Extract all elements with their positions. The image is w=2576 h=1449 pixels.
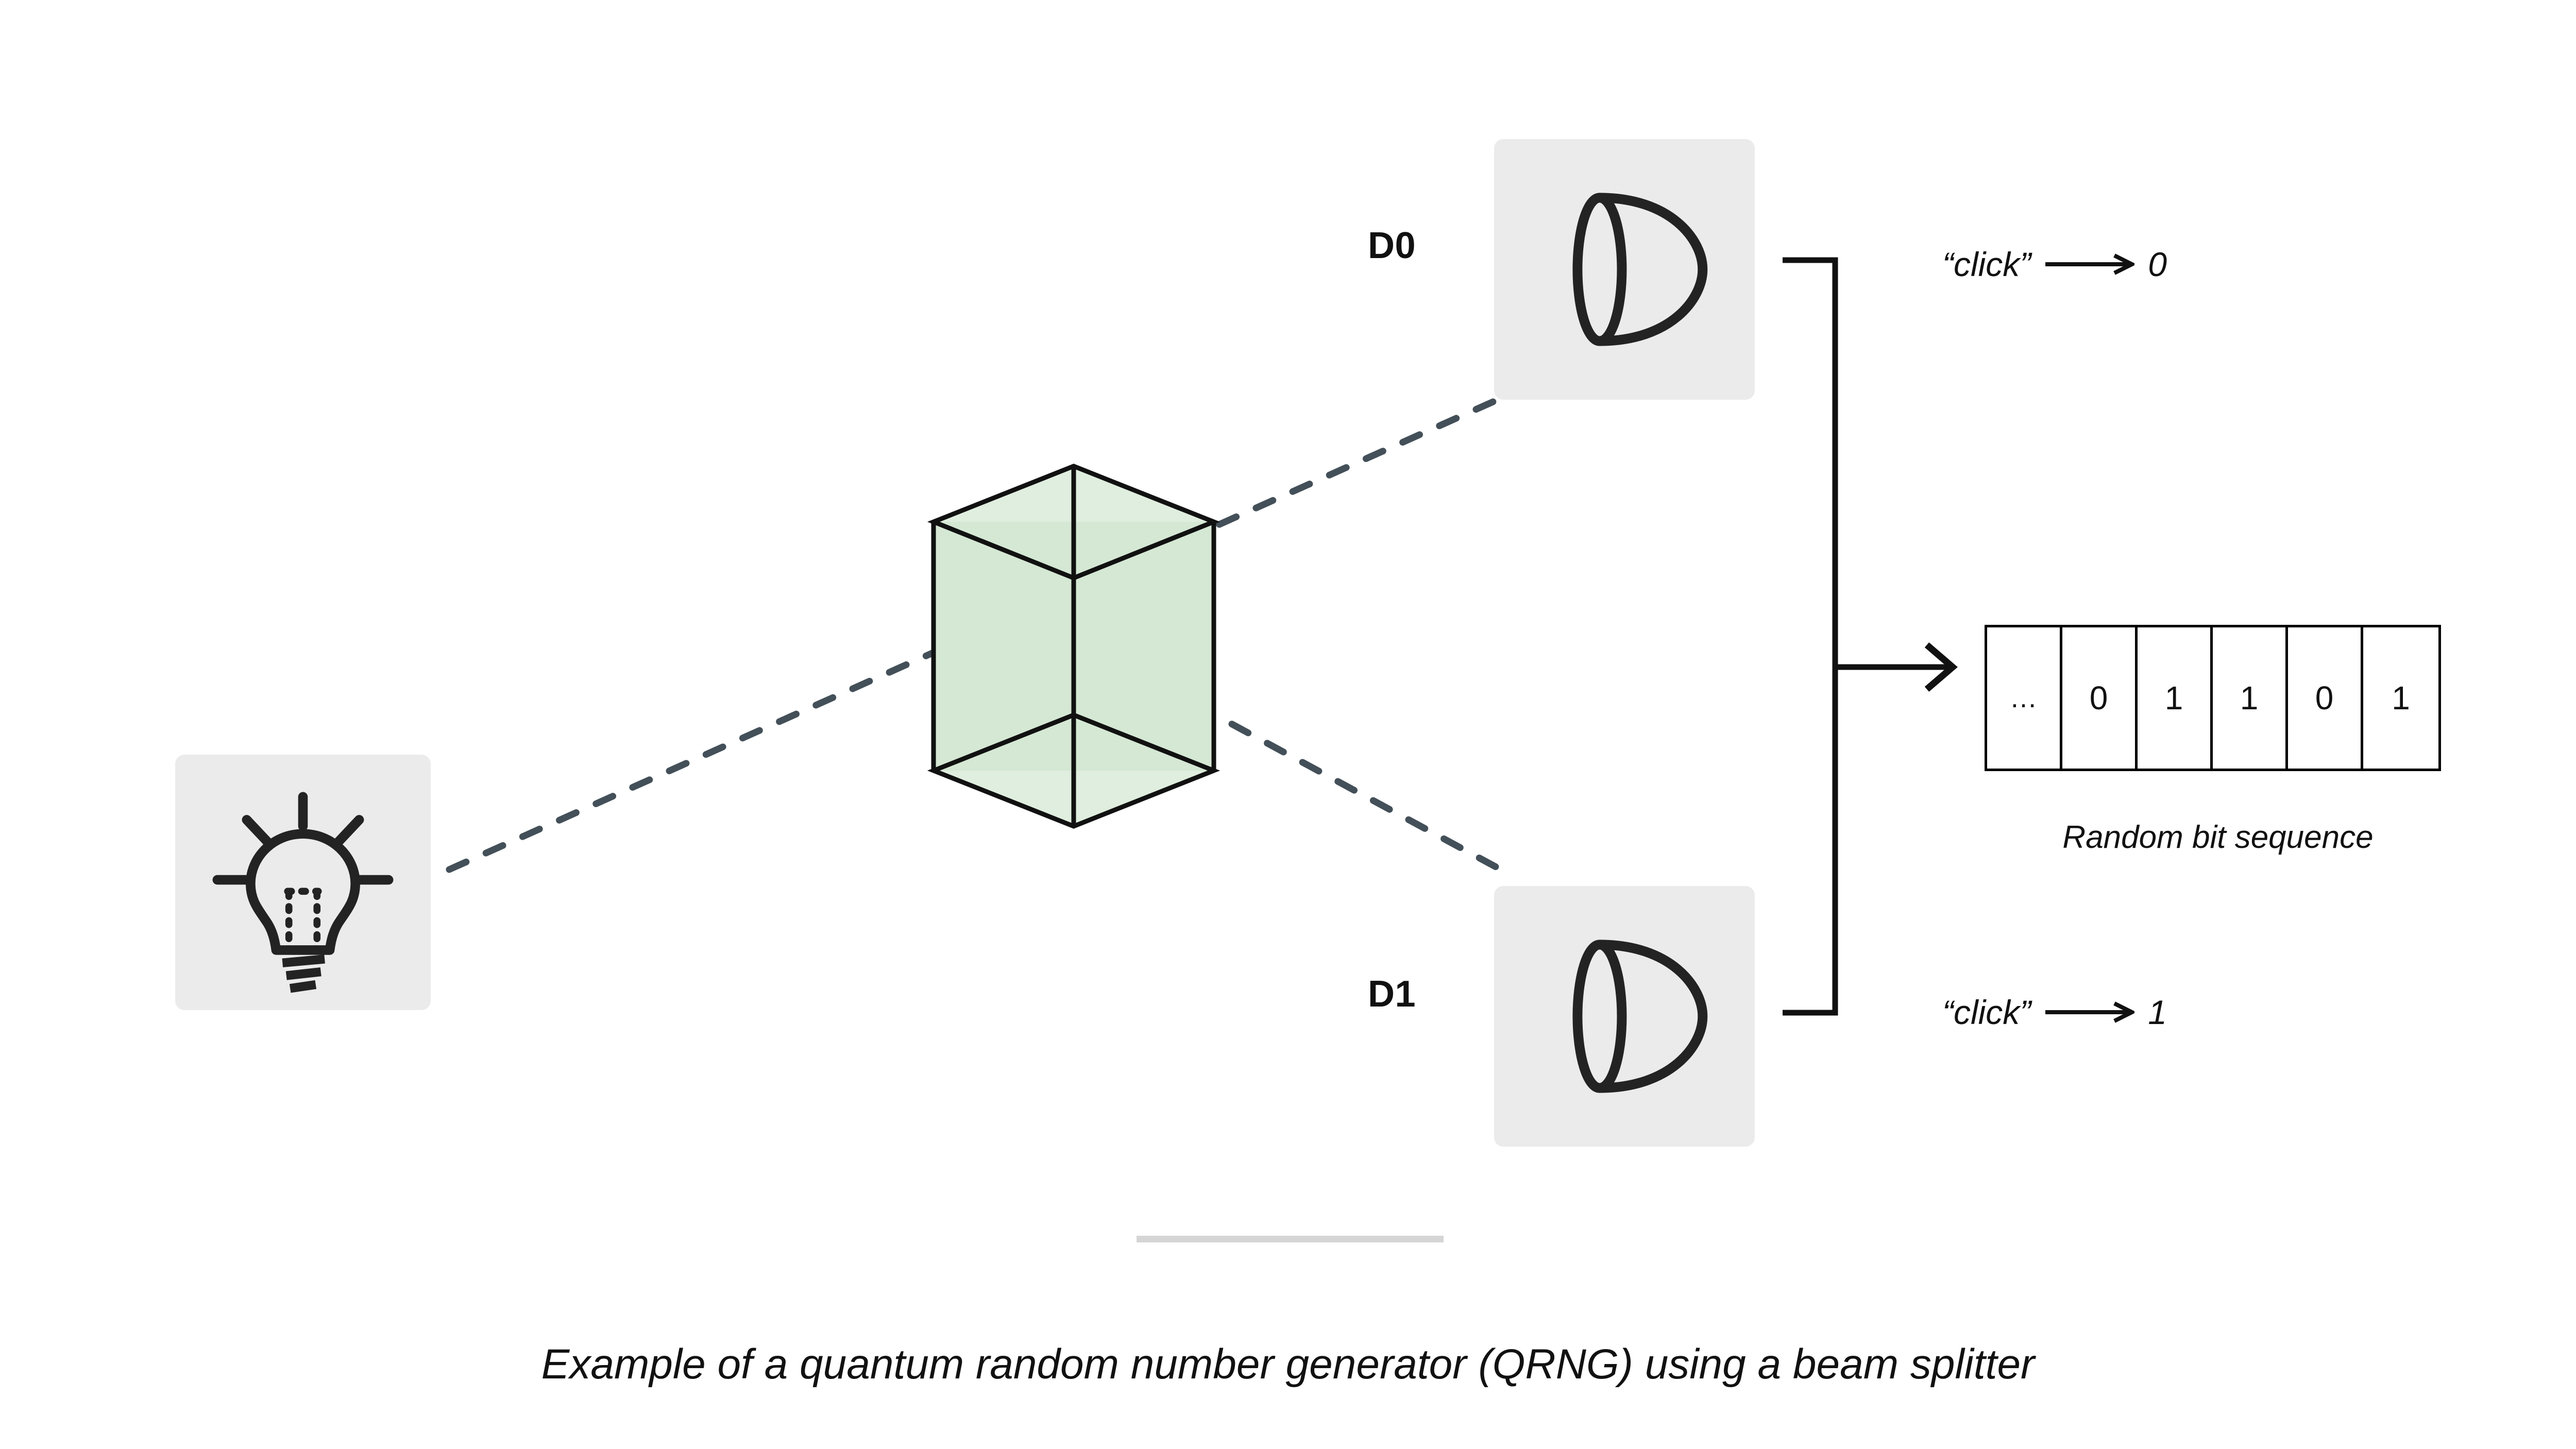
outcome-word-d0: “click”: [1942, 245, 2031, 284]
detector-card-d0[interactable]: [1494, 139, 1755, 400]
caption-divider: [1137, 1236, 1444, 1242]
random-bit-sequence-table: … 0 1 1 0 1: [1985, 625, 2441, 771]
bit-cell: 1: [2138, 627, 2213, 769]
photon-source-card[interactable]: [175, 755, 431, 1010]
outcome-d0: “click” 0: [1942, 245, 2167, 284]
figure-caption: Example of a quantum random number gener…: [541, 1340, 2035, 1389]
outcome-bit-d0: 0: [2148, 245, 2167, 284]
detector-label-d1: D1: [1368, 973, 1416, 1015]
detector-label-d0: D0: [1368, 225, 1416, 267]
bulb-filament: [287, 891, 318, 950]
lightbulb-icon: [175, 755, 431, 1010]
bit-cell: 0: [2062, 627, 2138, 769]
bit-cell: 1: [2213, 627, 2288, 769]
outcome-arrow-d0: [2044, 253, 2134, 275]
beam-splitter-cube: [934, 466, 1214, 826]
photodetector-dome-icon: [1494, 886, 1755, 1147]
bus-arrow-to-sequence: [1835, 645, 1953, 689]
detector-rim-ellipse: [1578, 945, 1622, 1088]
photodetector-dome-icon: [1494, 139, 1755, 400]
wire-d0-to-bus: [1783, 260, 1835, 667]
outcome-bit-d1: 1: [2148, 993, 2167, 1032]
outcome-word-d1: “click”: [1942, 993, 2031, 1032]
diagram-canvas: D0 “click” 0 D1 “click” 1 … 0: [0, 0, 2576, 1449]
bit-cell: 1: [2363, 627, 2438, 769]
random-bit-sequence-caption: Random bit sequence: [2062, 819, 2373, 856]
bit-cell: …: [1987, 627, 2062, 769]
wire-d1-to-bus: [1783, 667, 1835, 1013]
bit-cell: 0: [2288, 627, 2363, 769]
detector-rim-ellipse: [1578, 198, 1622, 341]
outcome-d1: “click” 1: [1942, 993, 2167, 1032]
detector-card-d1[interactable]: [1494, 886, 1755, 1147]
outcome-arrow-d1: [2044, 1001, 2134, 1023]
